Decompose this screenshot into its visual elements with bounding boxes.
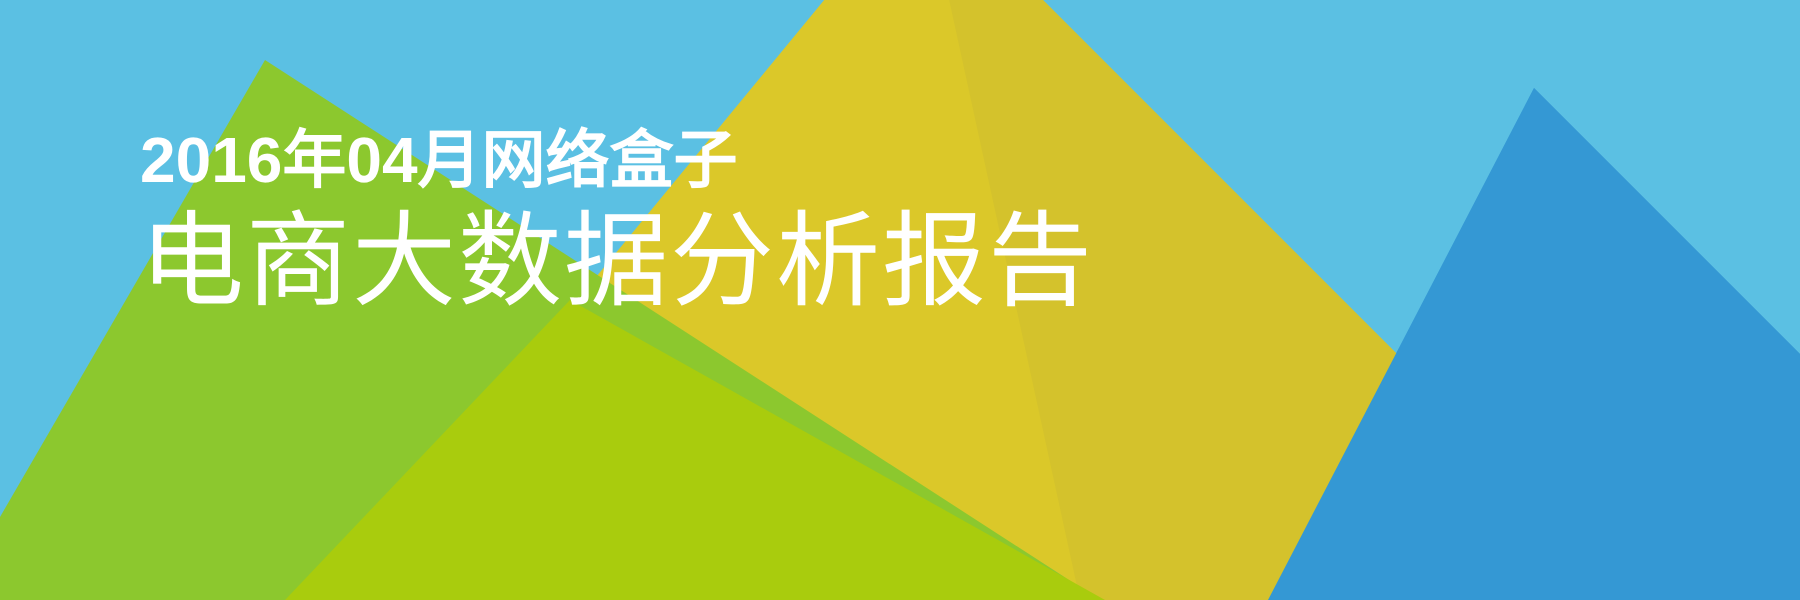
report-banner: 2016年04月网络盒子 电商大数据分析报告 (0, 0, 1800, 600)
background-geometry (0, 0, 1800, 600)
